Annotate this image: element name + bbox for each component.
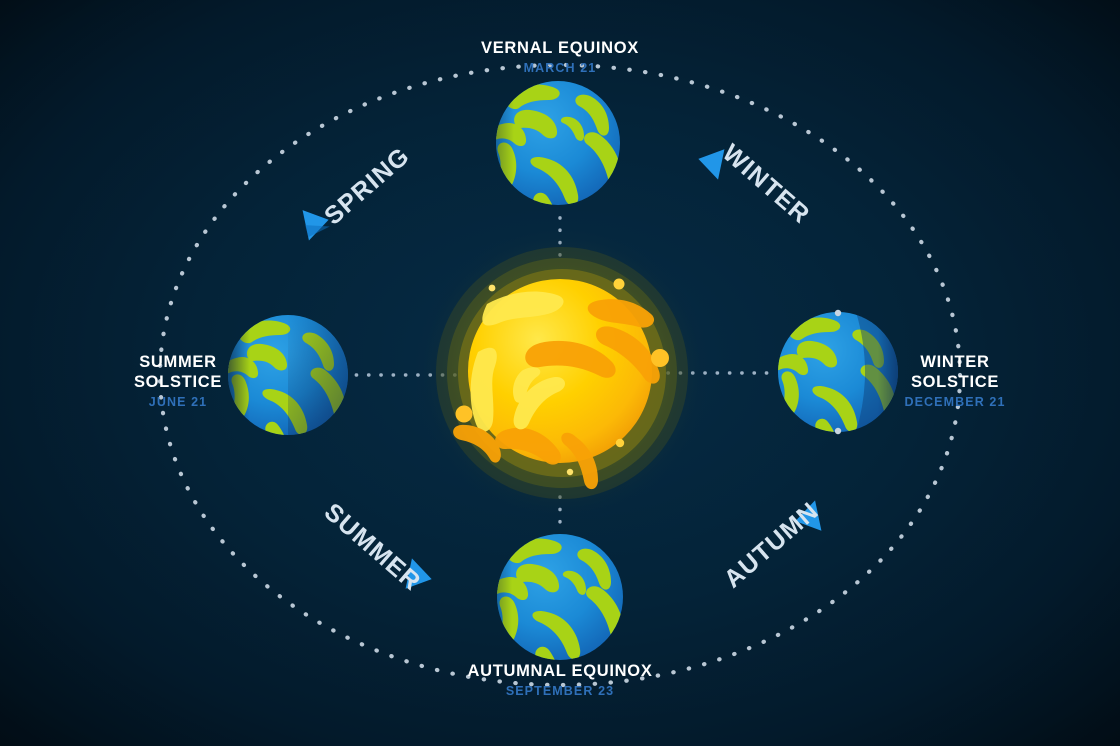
sun-particle-2 (651, 349, 669, 367)
label-vernal-equinox-title: VERNAL EQUINOX (380, 38, 740, 58)
label-autumnal-equinox-title: AUTUMNAL EQUINOX (380, 661, 740, 681)
label-autumnal-equinox-date: SEPTEMBER 23 (380, 684, 740, 699)
label-summer-solstice: SUMMER SOLSTICE JUNE 21 (78, 352, 278, 411)
pole-marker-south (835, 428, 841, 434)
label-summer-solstice-date: JUNE 21 (78, 395, 278, 410)
sun-particle-6 (567, 469, 573, 475)
sun-particle-3 (456, 406, 473, 423)
label-winter-solstice-title-line1: WINTER (855, 352, 1055, 372)
sun (414, 225, 710, 521)
label-summer-solstice-title-line2: SOLSTICE (78, 372, 278, 392)
earth-vernal-equinox (480, 78, 622, 250)
label-summer-solstice-title-line1: SUMMER (78, 352, 278, 372)
sun-particle-1 (614, 279, 625, 290)
label-vernal-equinox-date: MARCH 21 (380, 61, 740, 76)
label-winter-solstice: WINTER SOLSTICE DECEMBER 21 (855, 352, 1055, 411)
sun-particle-4 (489, 285, 496, 292)
label-winter-solstice-title-line2: SOLSTICE (855, 372, 1055, 392)
pole-marker-north (835, 310, 841, 316)
label-vernal-equinox: VERNAL EQUINOX MARCH 21 (380, 38, 740, 76)
diagram-canvas: VERNAL EQUINOX MARCH 21 SUMMER SOLSTICE … (0, 0, 1120, 746)
sun-particle-5 (616, 439, 624, 447)
label-autumnal-equinox: AUTUMNAL EQUINOX SEPTEMBER 23 (380, 661, 740, 699)
label-winter-solstice-date: DECEMBER 21 (855, 395, 1055, 410)
